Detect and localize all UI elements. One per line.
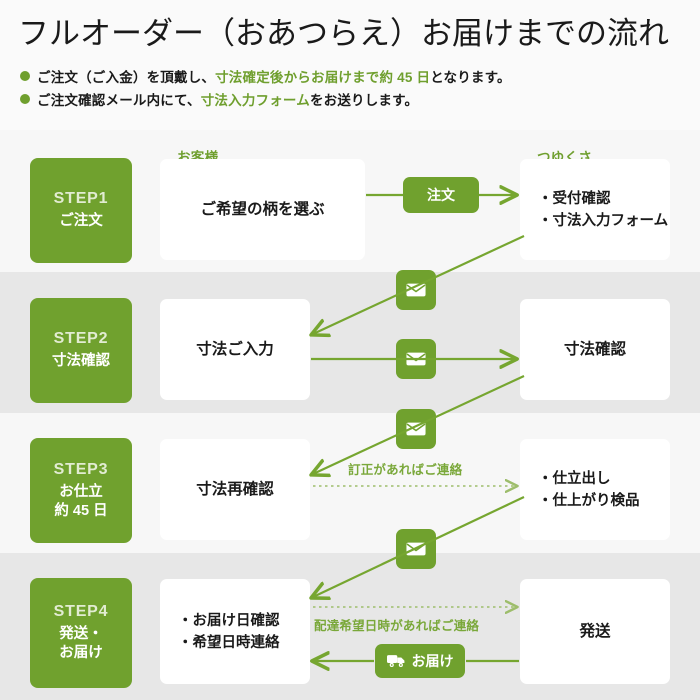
delivery-badge[interactable]: お届け [375,644,465,678]
envelope-badge-1[interactable] [396,270,436,310]
bullet-lead-text: ご注文（ご入金）を頂戴し、 [37,70,215,85]
step-label-1: ご注文 [59,212,103,231]
step-number-2: STEP2 [54,330,109,348]
customer-card-1: ご希望の柄を選ぶ [160,159,365,260]
customer-card-3-text: 寸法再確認 [196,479,274,501]
flow-diagram-page: フルオーダー（おあつらえ）お届けまでの流れ ご注文（ご入金）を頂戴し、寸法確定後… [0,0,700,700]
customer-card-2-text: 寸法ご入力 [196,339,274,361]
shop-card-1-text: ・受付確認 ・寸法入力フォーム [538,188,668,232]
shop-card-2-text: 寸法確認 [564,339,626,361]
shop-card-2: 寸法確認 [520,299,670,400]
shop-card-3-text: ・仕立出し ・仕上がり検品 [538,468,640,512]
step-label-4: 発送・ お届け [59,625,103,663]
step-label-2: 寸法確認 [52,352,110,371]
customer-card-4: ・お届け日確認 ・希望日時連絡 [160,579,310,684]
step-chip-3: STEP3 お仕立 約 45 日 [30,438,132,543]
bullet-lead-text: ご注文確認メール内にて、 [37,93,201,108]
step-number-3: STEP3 [54,461,109,479]
shop-card-4-text: 発送 [579,621,610,643]
step-chip-2: STEP2 寸法確認 [30,298,132,403]
customer-card-3: 寸法再確認 [160,439,310,540]
step-number-1: STEP1 [54,190,109,208]
header-bullet-text: ご注文確認メール内にて、寸法入力フォームをお送りします。 [37,89,418,109]
header-bullet-list: ご注文（ご入金）を頂戴し、寸法確定後からお届けまで約 45 日となります。 ご注… [20,64,511,110]
envelope-icon [406,283,426,297]
header-bullet-text: ご注文（ご入金）を頂戴し、寸法確定後からお届けまで約 45 日となります。 [37,66,511,86]
bullet-dot-icon [20,71,30,81]
header: フルオーダー（おあつらえ）お届けまでの流れ ご注文（ご入金）を頂戴し、寸法確定後… [0,0,700,130]
header-bullet-item: ご注文確認メール内にて、寸法入力フォームをお送りします。 [20,87,511,110]
customer-card-2: 寸法ご入力 [160,299,310,400]
header-bullet-item: ご注文（ご入金）を頂戴し、寸法確定後からお届けまで約 45 日となります。 [20,64,511,87]
step-label-3: お仕立 約 45 日 [54,483,107,521]
step-number-4: STEP4 [54,603,109,621]
envelope-badge-2[interactable] [396,339,436,379]
step-chip-4: STEP4 発送・ お届け [30,578,132,688]
customer-card-4-text: ・お届け日確認 ・希望日時連絡 [178,610,280,654]
delivery-badge-label: お届け [412,651,454,671]
bullet-highlight-text: 寸法入力フォーム [201,93,310,108]
truck-icon [387,654,406,668]
order-badge[interactable]: 注文 [403,177,479,213]
customer-card-1-text: ご希望の柄を選ぶ [200,199,324,221]
bullet-tail-text: をお送りします。 [310,93,418,108]
bullet-dot-icon [20,94,30,104]
shop-card-4: 発送 [520,579,670,684]
page-title: フルオーダー（おあつらえ）お届けまでの流れ [18,14,669,54]
envelope-badge-4[interactable] [396,529,436,569]
envelope-icon [406,352,426,366]
bullet-highlight-text: 寸法確定後からお届けまで約 45 日 [215,70,430,85]
annotation-step4: 配達希望日時があればご連絡 [314,615,479,634]
step-chip-1: STEP1 ご注文 [30,158,132,263]
bullet-tail-text: となります。 [430,70,510,85]
shop-card-1: ・受付確認 ・寸法入力フォーム [520,159,670,260]
annotation-step3: 訂正があればご連絡 [348,459,462,478]
envelope-icon [406,542,426,556]
envelope-badge-3[interactable] [396,409,436,449]
envelope-icon [406,422,426,436]
shop-card-3: ・仕立出し ・仕上がり検品 [520,439,670,540]
order-badge-label: 注文 [427,185,455,205]
